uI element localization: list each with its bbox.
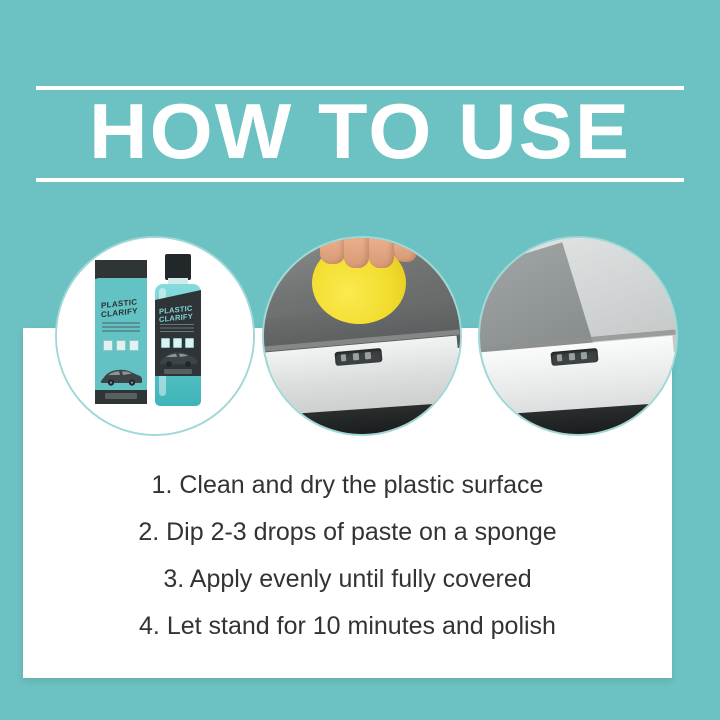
step-item-1: 1. Clean and dry the plastic surface: [23, 462, 672, 509]
page-title: HOW TO USE: [0, 88, 720, 174]
photo-product-packaging: PLASTICCLARIFY: [55, 236, 255, 436]
hand-fingers: [320, 236, 424, 272]
finger: [320, 236, 345, 264]
photo-restored-surface: [478, 236, 678, 436]
box-feature-icons: [103, 340, 141, 353]
title-block: HOW TO USE: [0, 62, 720, 192]
steps-list: 1. Clean and dry the plastic surface 2. …: [23, 462, 672, 650]
car-illustration-box: [99, 364, 143, 386]
car-illustration-bottle: [158, 347, 198, 367]
box-volume-strip: [105, 393, 137, 399]
finger: [394, 236, 417, 262]
bottle-cap: [165, 254, 191, 280]
product-bottle: PLASTICCLARIFY: [155, 254, 201, 406]
title-rule-bottom: [36, 178, 684, 182]
photo-applying-with-sponge: [262, 236, 462, 436]
bottle-brand-label: PLASTICCLARIFY: [159, 304, 199, 324]
bottle-volume-strip: [164, 369, 192, 374]
step-item-2: 2. Dip 2-3 drops of paste on a sponge: [23, 509, 672, 556]
step-item-4: 4. Let stand for 10 minutes and polish: [23, 603, 672, 650]
finger: [344, 236, 369, 268]
photo-row: PLASTICCLARIFY: [0, 236, 720, 436]
bottle-label: PLASTICCLARIFY: [155, 300, 201, 376]
product-box: PLASTICCLARIFY: [95, 260, 147, 404]
step-item-3: 3. Apply evenly until fully covered: [23, 556, 672, 603]
finger: [369, 236, 394, 268]
poster-canvas: HOW TO USE PLASTICCLARIFY: [0, 0, 720, 720]
bottle-subtext-lines: [160, 324, 194, 325]
box-subtext-lines: [102, 322, 140, 324]
